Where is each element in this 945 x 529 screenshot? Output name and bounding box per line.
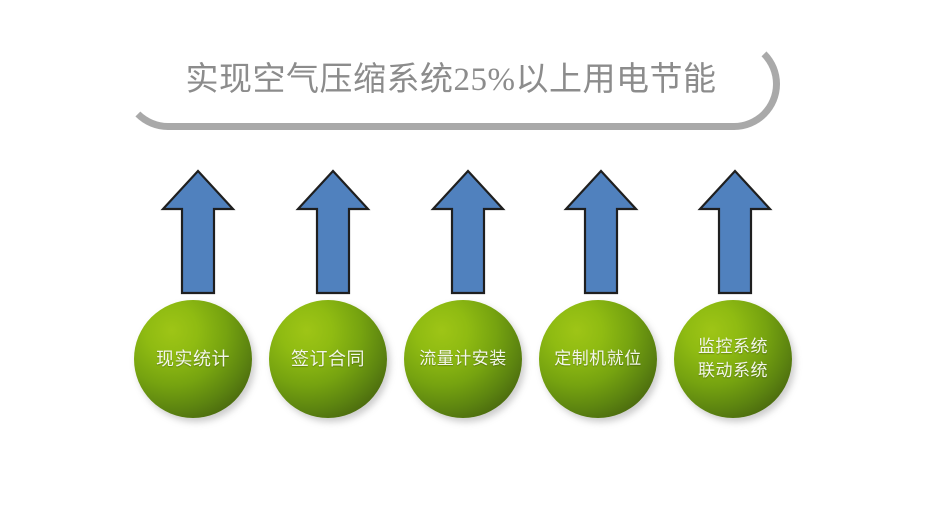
process-node-4[interactable]: 定制机就位: [539, 300, 657, 418]
process-node-5[interactable]: 监控系统 联动系统: [674, 300, 792, 418]
title-banner: 实现空气压缩系统25%以上用电节能: [122, 38, 780, 130]
up-arrow-icon-3: [430, 168, 506, 296]
process-node-label-4: 定制机就位: [550, 347, 646, 371]
process-node-label-2: 签订合同: [287, 348, 369, 371]
process-node-label-5: 监控系统 联动系统: [694, 335, 772, 383]
process-node-label-3: 流量计安装: [415, 347, 511, 371]
page-title: 实现空气压缩系统25%以上用电节能: [122, 38, 780, 122]
up-arrow-icon-2: [295, 168, 371, 296]
up-arrow-icon-1: [160, 168, 236, 296]
up-arrow-icon-4: [563, 168, 639, 296]
up-arrow-icon-5: [697, 168, 773, 296]
process-node-label-1: 现实统计: [152, 348, 234, 371]
process-node-3[interactable]: 流量计安装: [404, 300, 522, 418]
process-node-1[interactable]: 现实统计: [134, 300, 252, 418]
slide-canvas: 实现空气压缩系统25%以上用电节能 现实统计 签订合同 流量计安装 定制机: [0, 0, 945, 529]
process-node-2[interactable]: 签订合同: [269, 300, 387, 418]
